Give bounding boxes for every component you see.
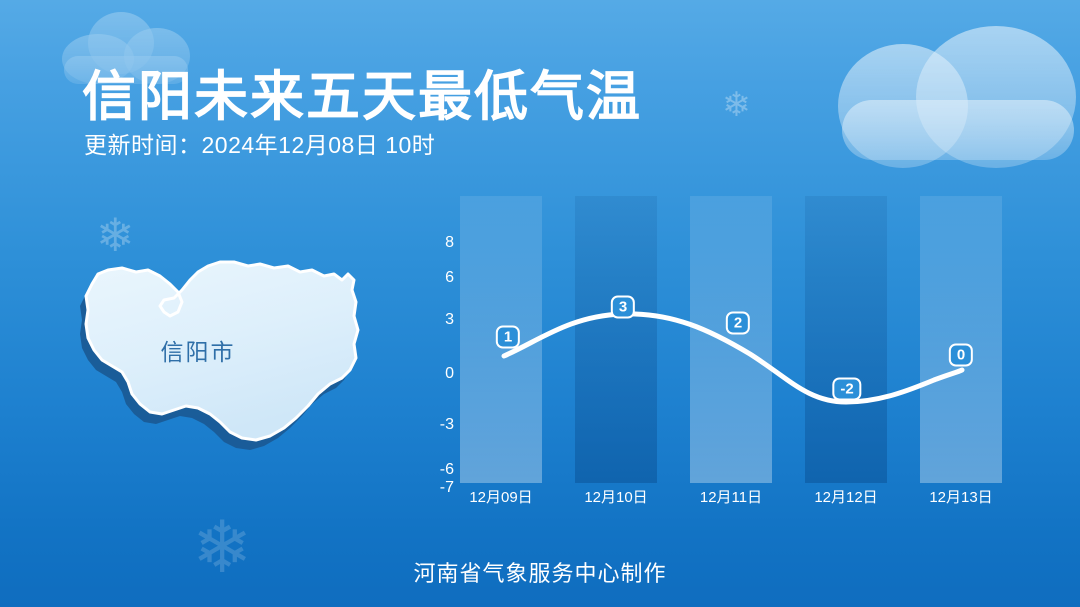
xinyang-map: 信阳市 [72, 248, 392, 463]
x-axis: 12月09日 12月10日 12月11日 12月12日 12月13日 [410, 486, 1040, 516]
update-time: 更新时间：2024年12月08日 10时 [84, 126, 435, 160]
data-point-badge: 3 [611, 296, 635, 319]
snowflake-icon: ❄ [722, 88, 751, 122]
page-title: 信阳未来五天最低气温 [82, 52, 642, 131]
x-axis-tick: 12月12日 [814, 486, 877, 507]
cloud-icon [838, 26, 1080, 158]
x-axis-tick: 12月10日 [584, 486, 647, 507]
x-axis-tick: 12月09日 [469, 486, 532, 507]
footer-credit: 河南省气象服务中心制作 [0, 556, 1080, 588]
data-point-badge: -2 [832, 378, 861, 401]
temperature-chart: 8 6 3 0 -3 -6 -7 1 3 2 -2 0 12月09日 12月10… [410, 190, 1040, 500]
data-point-badge: 1 [496, 326, 520, 349]
weather-infographic: ❄ ❄ ❄ 信阳未来五天最低气温 更新时间：2024年12月08日 10时 信阳… [0, 0, 1080, 607]
map-shape [72, 248, 392, 463]
x-axis-tick: 12月13日 [929, 486, 992, 507]
data-point-badge: 2 [726, 312, 750, 335]
x-axis-tick: 12月11日 [700, 486, 762, 507]
data-point-badge: 0 [949, 344, 973, 367]
